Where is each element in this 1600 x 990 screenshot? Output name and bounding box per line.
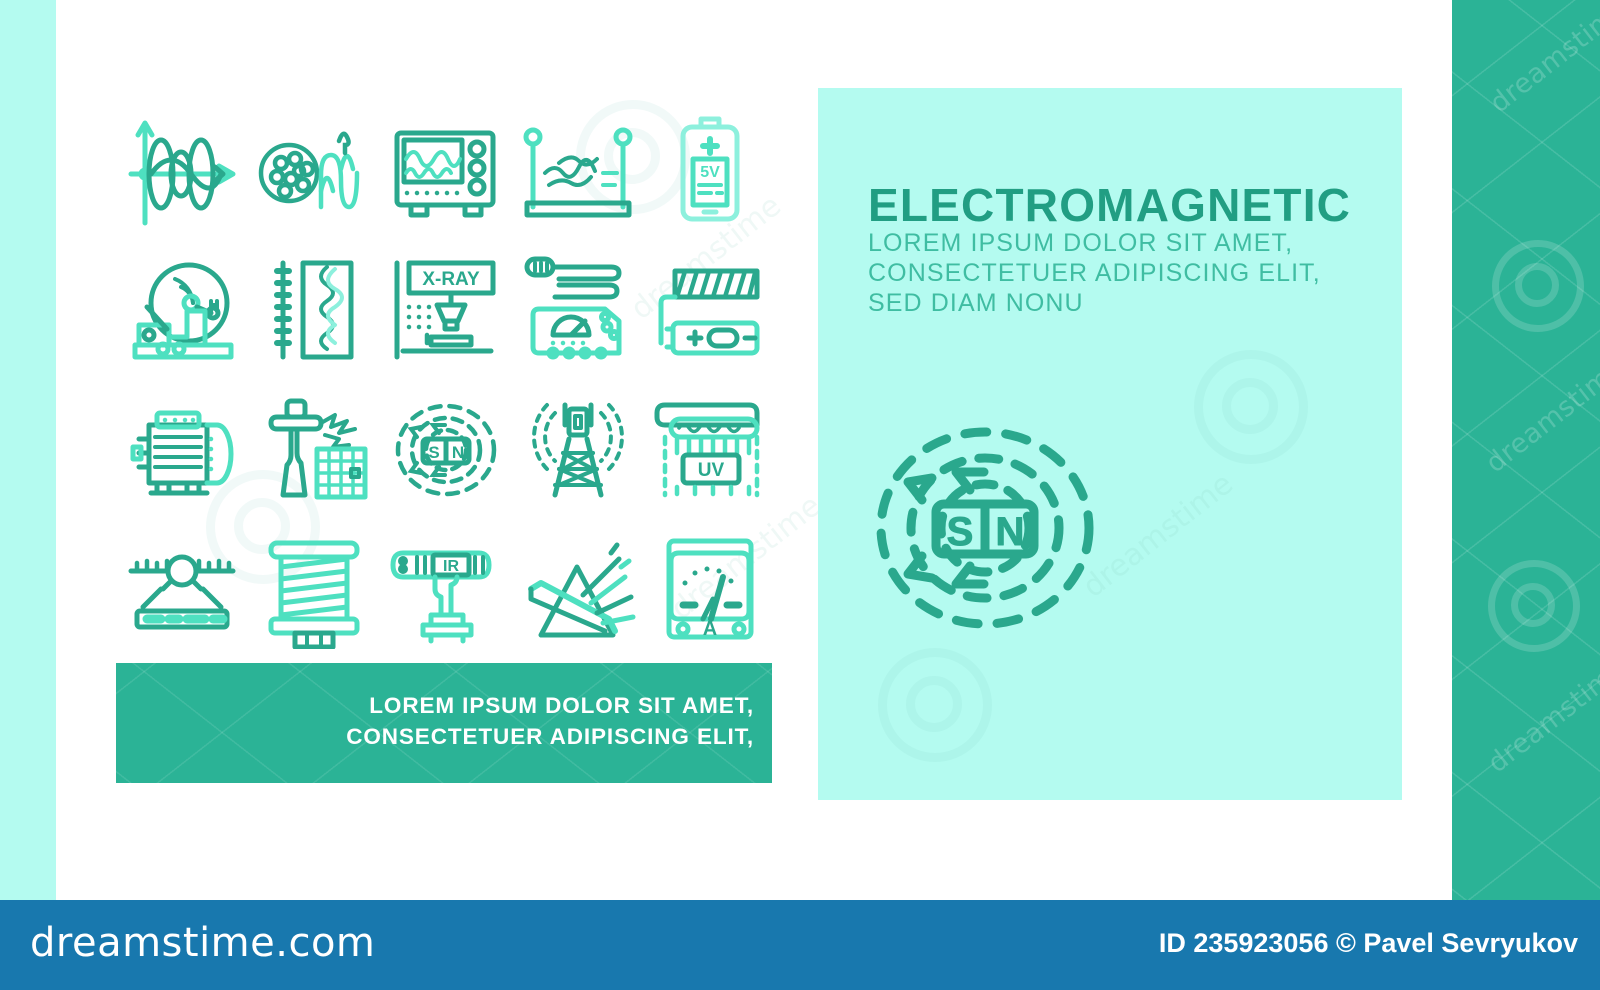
x-ray-machine-icon[interactable]: X-RAY xyxy=(380,240,512,380)
svg-text:IR: IR xyxy=(443,558,459,575)
geiger-counter-icon[interactable] xyxy=(512,240,644,380)
svg-text:A: A xyxy=(703,618,717,640)
dreamstime-footer-bar: dreamstime.com ID 235923056 © Pavel Sevr… xyxy=(0,900,1600,990)
electromagnet-battery-icon[interactable] xyxy=(644,240,776,380)
wave-axis-icon[interactable] xyxy=(116,100,248,240)
mri-scanner-icon[interactable] xyxy=(116,240,248,380)
prism-light-icon[interactable] xyxy=(512,520,644,660)
headline-panel: dreamstime ELECTROMAGNETIC LOREM IPSUM D… xyxy=(818,88,1402,800)
banner-line-2: CONSECTETUER ADIPISCING ELIT, xyxy=(346,721,754,752)
watermark-spiral-icon xyxy=(1492,240,1584,332)
battery-voltage-icon[interactable]: 5V xyxy=(644,100,776,240)
electric-motor-icon[interactable] xyxy=(116,380,248,520)
artboard: dreamstime dreamstime xyxy=(56,0,1452,900)
svg-text:N: N xyxy=(452,443,464,462)
watermark-spiral-icon xyxy=(1194,350,1308,464)
seismograph-icon[interactable] xyxy=(248,240,380,380)
atom-radiation-icon[interactable] xyxy=(248,100,380,240)
icon-grid-row: S N xyxy=(116,380,776,520)
oscilloscope-icon[interactable] xyxy=(380,100,512,240)
aurora-borealis-icon[interactable] xyxy=(512,100,644,240)
svg-text:X-RAY: X-RAY xyxy=(422,269,480,290)
watermark-spiral-icon xyxy=(1488,560,1580,652)
icon-grid-row: 5V xyxy=(116,100,776,240)
subtitle-line-3: SED DIAM NONU xyxy=(868,288,1321,318)
svg-text:S: S xyxy=(428,443,439,462)
banner-line-1: LOREM IPSUM DOLOR SIT AMET, xyxy=(346,690,754,721)
page-subtitle: LOREM IPSUM DOLOR SIT AMET, CONSECTETUER… xyxy=(868,228,1321,318)
watermark-spiral-icon xyxy=(878,648,992,762)
subtitle-line-2: CONSECTETUER ADIPISCING ELIT, xyxy=(868,258,1321,288)
icon-grid-row: X-RAY xyxy=(116,240,776,380)
banner-text: LOREM IPSUM DOLOR SIT AMET, CONSECTETUER… xyxy=(346,690,754,752)
svg-text:5V: 5V xyxy=(700,164,720,181)
svg-text:N: N xyxy=(996,510,1025,554)
ir-lamp-icon[interactable]: IR xyxy=(380,520,512,660)
dreamstime-logo[interactable]: dreamstime.com xyxy=(30,920,375,966)
ammeter-icon[interactable]: A xyxy=(644,520,776,660)
uv-lamp-icon[interactable]: UV xyxy=(644,380,776,520)
radio-tower-icon[interactable] xyxy=(512,380,644,520)
stock-image-canvas: dreamstime dreamstime xyxy=(0,0,1600,990)
page-title: ELECTROMAGNETIC xyxy=(868,179,1351,231)
icon-grid: 5V xyxy=(116,100,776,660)
right-watermark-strip: dreamstime dreamstime dreamstime xyxy=(1452,0,1600,900)
left-accent-strip xyxy=(0,0,56,900)
spectrometer-icon[interactable] xyxy=(116,520,248,660)
svg-text:S: S xyxy=(947,510,974,554)
footer-banner: LOREM IPSUM DOLOR SIT AMET, CONSECTETUER… xyxy=(116,663,772,783)
welding-sparks-icon[interactable] xyxy=(248,380,380,520)
induction-coil-icon[interactable] xyxy=(248,520,380,660)
subtitle-line-1: LOREM IPSUM DOLOR SIT AMET, xyxy=(868,228,1321,258)
dreamstime-logo-text: dreamstime.com xyxy=(30,920,375,966)
image-credit: ID 235923056 © Pavel Sevryukov xyxy=(1159,928,1578,959)
magnet-field-icon[interactable]: S N xyxy=(380,380,512,520)
icon-grid-row: IR xyxy=(116,520,776,660)
magnet-field-icon: S N xyxy=(860,408,1110,648)
svg-text:UV: UV xyxy=(698,460,725,481)
